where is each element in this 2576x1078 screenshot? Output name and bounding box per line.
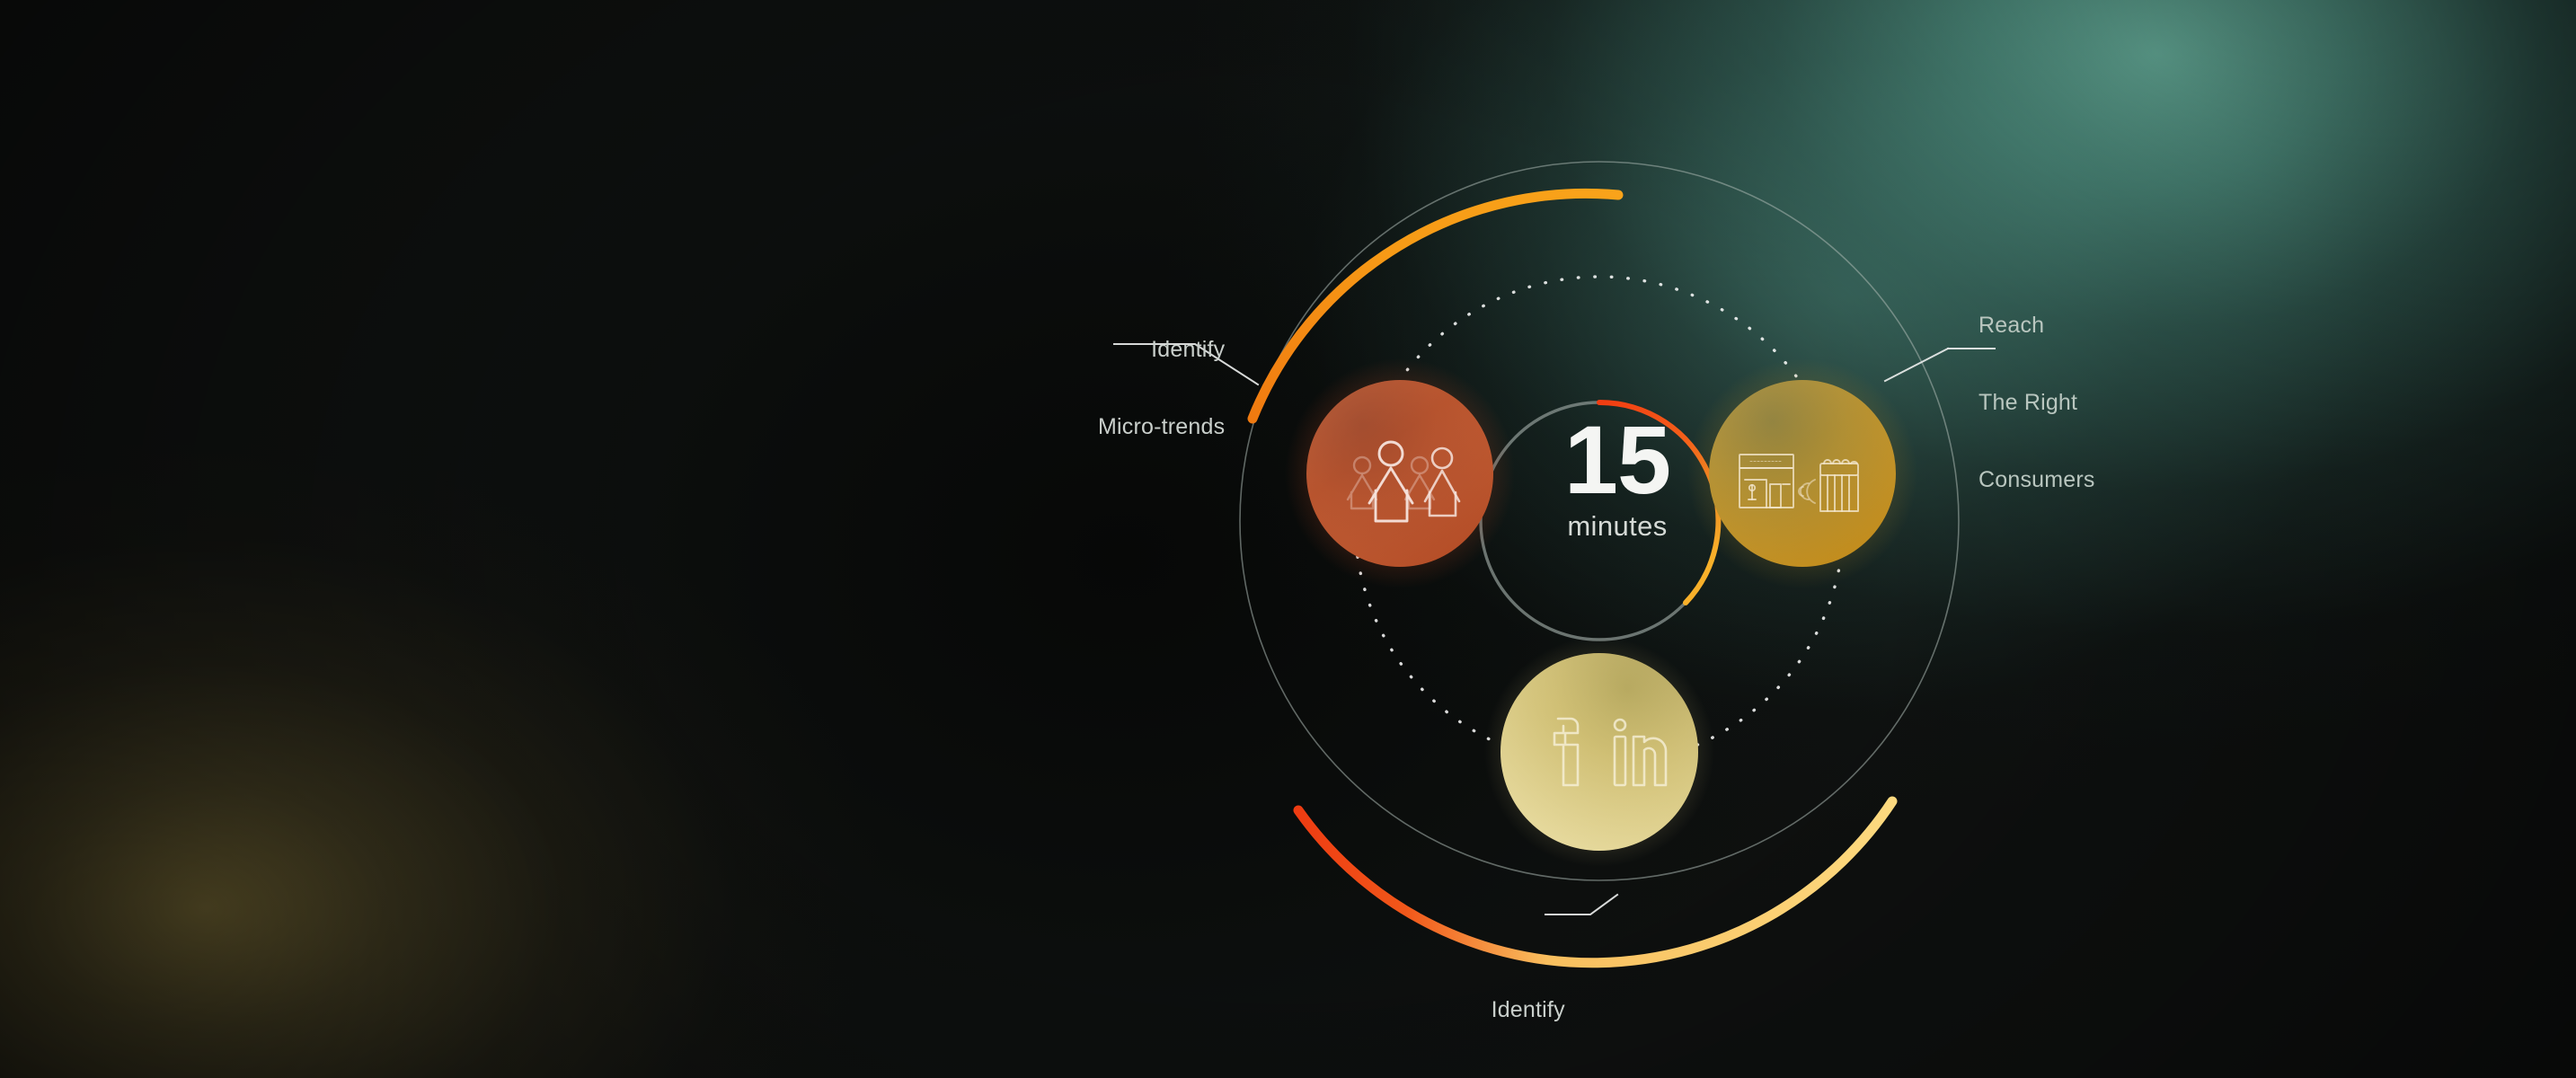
label-left-line1: Identify [1098,337,1225,363]
audience-node-sheen [1306,380,1493,567]
label-bottom-line2: Micro-trends [1465,1074,1591,1078]
leader-line-bottom [1545,895,1617,915]
node-audience[interactable] [1306,380,1493,567]
label-left-line2: Micro-trends [1098,414,1225,440]
label-identify-micro-trends-bottom: Identify Micro-trends [1465,945,1591,1078]
label-bottom-line1: Identify [1465,997,1591,1023]
infographic-canvas: Identify Micro-trends Reach The Right Co… [0,0,2576,1078]
node-social[interactable] [1500,653,1698,851]
center-value: 15 [1469,413,1766,507]
social-node-sheen [1500,653,1698,851]
label-right-line2: The Right [1978,390,2095,416]
label-right-line3: Consumers [1978,467,2095,493]
diagram-graphic [0,0,2576,1078]
center-metric: 15 minutes [1469,413,1766,543]
label-identify-micro-trends-left: Identify Micro-trends [1098,285,1225,491]
label-right-line1: Reach [1978,313,2095,339]
label-reach-the-right-consumers: Reach The Right Consumers [1978,261,2095,544]
center-unit: minutes [1469,510,1766,543]
